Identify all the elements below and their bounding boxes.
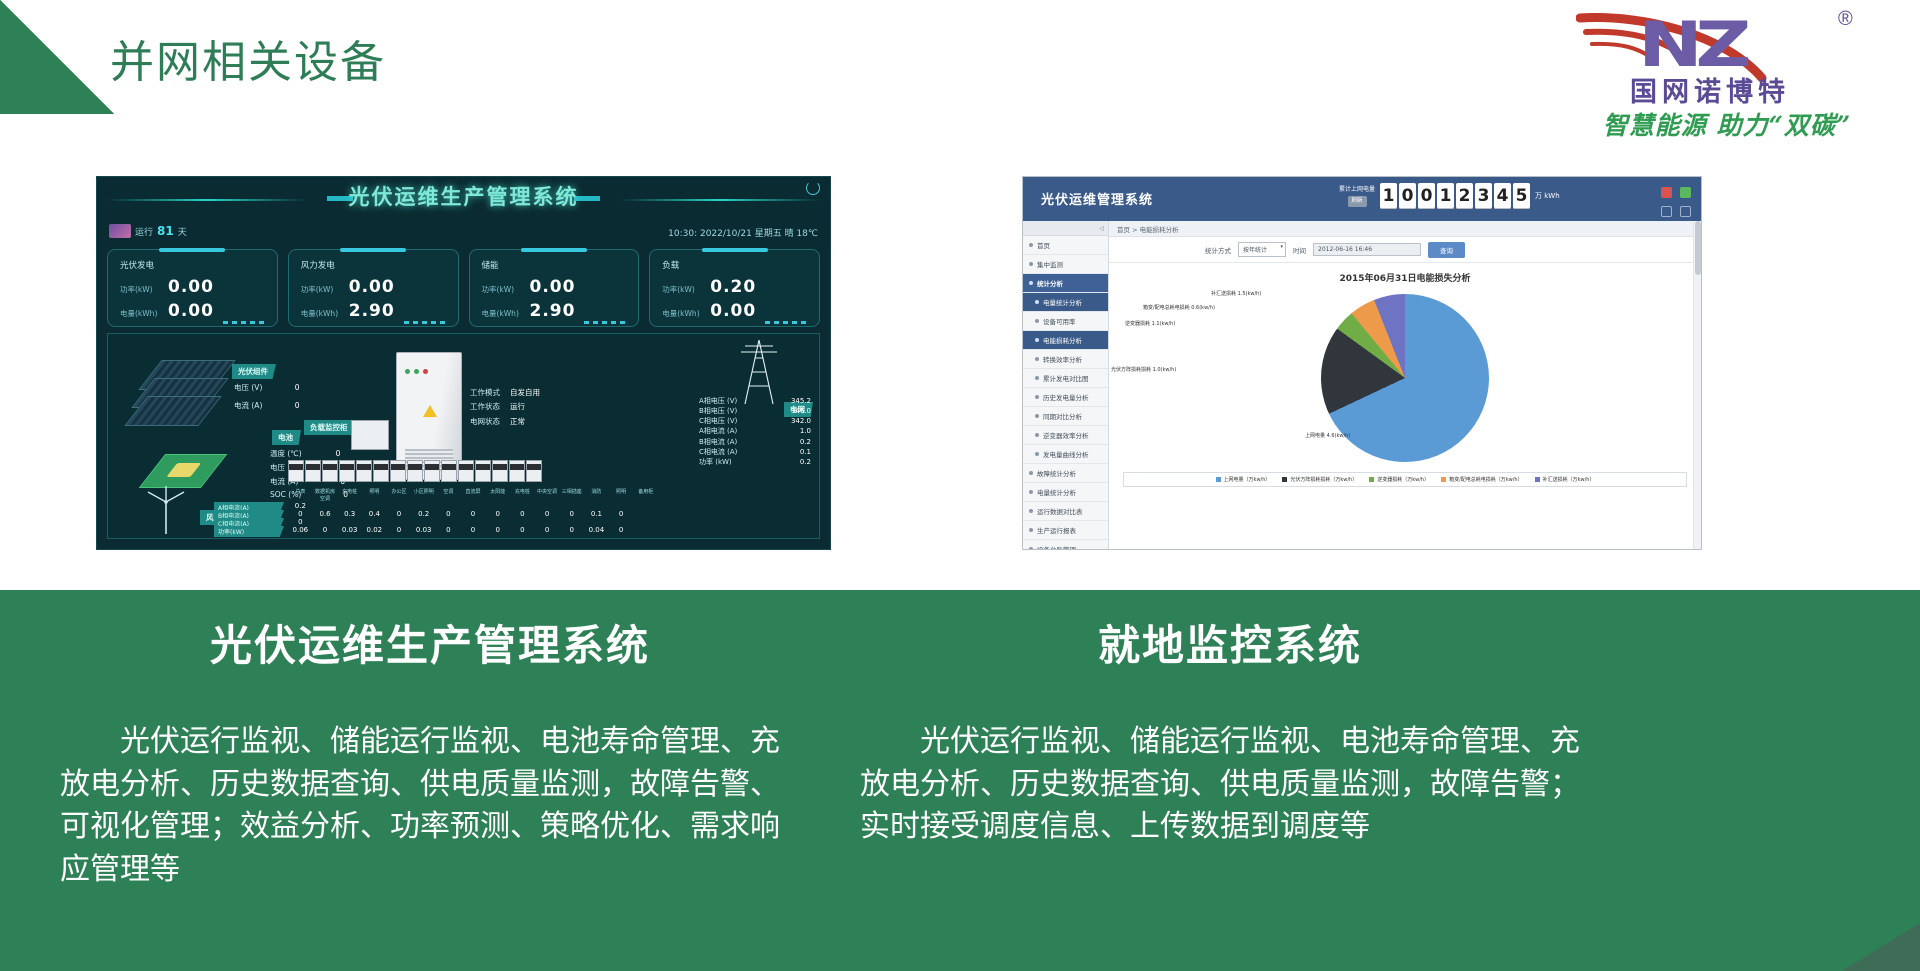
table-cell (387, 518, 412, 526)
logo-slogan: 智慧能源 助力“双碳” (1554, 106, 1900, 142)
bullet-icon (1035, 357, 1039, 361)
sidebar-item-label: 发电量曲线分析 (1043, 449, 1089, 459)
sidebar-item-7[interactable]: 累计发电对比图 (1023, 369, 1108, 388)
grid-value: 346.0 (791, 406, 811, 416)
mode-value: 运行 (510, 400, 525, 414)
kpi-card-load: 负载 功率(kW)0.20 电量(kWh)0.00 (649, 249, 820, 327)
sidebar-item-2[interactable]: 统计分析 (1023, 274, 1108, 293)
legend-item: 箱变/配电总耗电损耗（万kw/h） (1441, 476, 1523, 483)
pie-annotation: 上网电量 4.6(kw/h) (1305, 432, 1350, 439)
bullet-icon (1029, 547, 1033, 550)
legend-swatch (1535, 477, 1540, 482)
table-column-header: 办公区 (387, 488, 412, 502)
sidebar-item-label: 生产运行报表 (1037, 525, 1076, 535)
legend-label: 光伏方阵损耗损耗（万kw/h） (1290, 476, 1357, 483)
counter-digit: 1 (1380, 183, 1397, 209)
caption-column-right: 就地监控系统 光伏运行监视、储能运行监视、电池寿命管理、充放电分析、历史数据查询… (860, 612, 1600, 849)
header-action-icons (1658, 183, 1691, 221)
kpi-label: 电量(kWh) (120, 308, 160, 319)
legend-item: 逆变器损耗（万kw/h） (1369, 476, 1429, 483)
table-cell (535, 518, 560, 526)
web-brand-title: 光伏运维管理系统 (1041, 189, 1153, 208)
table-cell: 0 (510, 526, 535, 534)
table-cell (337, 518, 362, 526)
kpi-name: 风力发电 (301, 259, 448, 271)
table-cell (337, 502, 362, 510)
alert-icon[interactable] (1661, 187, 1672, 198)
bullet-icon (1029, 509, 1033, 513)
grid-label: C相电压 (V) (699, 416, 737, 426)
kpi-card-row: 光伏发电 功率(kW)0.00 电量(kWh)0.00 风力发电 功率(kW)0… (97, 245, 830, 327)
table-cell: 0 (559, 510, 584, 518)
kpi-value: 0.20 (710, 277, 756, 297)
table-column-header: 照明 (362, 488, 387, 502)
breaker-icon (288, 460, 304, 482)
chart-legend: 上网电量（万kw/h）光伏方阵损耗损耗（万kw/h）逆变器损耗（万kw/h）箱变… (1123, 472, 1687, 487)
table-cell (461, 518, 486, 526)
table-cell: 0 (461, 526, 486, 534)
runtime-label: 运行 (135, 225, 153, 238)
sidebar-item-11[interactable]: 发电量曲线分析 (1023, 445, 1108, 464)
breaker-icon (390, 460, 406, 482)
sidebar-item-label: 设备可用率 (1043, 316, 1076, 326)
page-title: 并网相关设备 (110, 26, 386, 90)
legend-label: 上网电量（万kw/h） (1224, 476, 1271, 483)
grid-label: A相电流 (A) (699, 426, 737, 436)
caption-body-right: 光伏运行监视、储能运行监视、电池寿命管理、充放电分析、历史数据查询、供电质量监测… (860, 721, 1600, 849)
table-cell: 0.03 (337, 526, 362, 534)
pie-annotation: 光伏方阵损耗损耗 1.0(kw/h) (1111, 366, 1176, 373)
breaker-icon (526, 460, 542, 482)
breaker-icon (356, 460, 372, 482)
kpi-name: 光伏发电 (120, 259, 267, 271)
sidebar-item-label: 逆变器效率分析 (1043, 430, 1089, 440)
legend-item: 补汇送损耗（万kw/h） (1535, 476, 1595, 483)
bullet-icon (1029, 281, 1033, 285)
sidebar-item-label: 同期对比分析 (1043, 411, 1082, 421)
pv-field-label: 电压 (V) (234, 383, 262, 392)
kpi-card-storage: 储能 功率(kW)0.00 电量(kWh)2.90 (469, 249, 640, 327)
kpi-name: 储能 (482, 259, 629, 271)
pie-annotation: 逆变器损耗 1.1(kw/h) (1125, 320, 1175, 327)
kpi-value: 0.00 (168, 301, 214, 321)
sidebar-item-label: 历史发电量分析 (1043, 392, 1089, 402)
grid-value: 342.0 (791, 416, 811, 426)
table-cell: 0.2 (288, 502, 313, 510)
grid-label: 功率 (kW) (699, 457, 732, 467)
sidebar: ◁ 首页集中监测统计分析电量统计分析设备可用率电能损耗分析转换效率分析累计发电对… (1023, 221, 1109, 550)
mode-label: 工作模式 (470, 386, 500, 400)
breaker-icon (339, 460, 355, 482)
sidebar-item-6[interactable]: 转换效率分析 (1023, 350, 1108, 369)
table-cell (411, 502, 436, 510)
table-cell (461, 502, 486, 510)
user-icon[interactable] (1680, 206, 1691, 217)
table-cell (609, 518, 634, 526)
grid-value: 1.0 (800, 426, 811, 436)
filter-toolbar: 统计方式 按年统计 时间 2012-06-16 16:46 查询 (1109, 237, 1701, 263)
breaker-icon (424, 460, 440, 482)
power-icon[interactable] (806, 181, 820, 195)
chart-title: 2015年06月31日电能损失分析 (1117, 271, 1693, 284)
sidebar-item-label: 统计分析 (1037, 278, 1063, 288)
table-column-header: 照明 (609, 488, 634, 502)
datetime-weather: 10:30: 2022/10/21 星期五 晴 18℃ (668, 226, 818, 239)
load-measurement-table: 总表数据机房空调充电桩照明办公区小区照明空调直流屏太阳能充电桩中央空调三相插座消… (288, 488, 658, 534)
load-cabinet-tag: 负载监控柜 (304, 420, 356, 435)
grid-label: C相电流 (A) (699, 447, 737, 457)
breaker-icon (407, 460, 423, 482)
table-cell (633, 518, 658, 526)
bullet-icon (1035, 452, 1039, 456)
caption-panel: 光伏运维生产管理系统 光伏运行监视、储能运行监视、电池寿命管理、充放电分析、历史… (0, 590, 1920, 971)
table-cell: 0 (436, 510, 461, 518)
grid-label: A相电压 (V) (699, 396, 737, 406)
runtime-days: 81 (157, 224, 174, 238)
stat-method-label: 统计方式 (1205, 245, 1231, 255)
kpi-label: 功率(kW) (120, 284, 160, 295)
sidebar-item-label: 转换效率分析 (1043, 354, 1082, 364)
table-column-header: 太阳能 (485, 488, 510, 502)
table-cell: 0 (510, 510, 535, 518)
kpi-label: 电量(kWh) (482, 308, 522, 319)
table-cell (633, 502, 658, 510)
kpi-value: 0.00 (530, 277, 576, 297)
runtime-unit: 天 (178, 225, 187, 238)
kpi-label: 功率(kW) (482, 284, 522, 295)
table-cell (411, 518, 436, 526)
pv-field-label: 电流 (A) (234, 401, 262, 410)
table-row: B相电流(A)00.60.30.400.20000000.10 (288, 510, 658, 518)
table-column-header: 消防 (584, 488, 609, 502)
legend-label: 箱变/配电总耗电损耗（万kw/h） (1449, 476, 1523, 483)
bullet-icon (1029, 490, 1033, 494)
table-cell: 0.04 (584, 526, 609, 534)
logo-chip-icon (109, 224, 131, 238)
table-column-header: 备用柜 (633, 488, 658, 502)
bullet-icon (1035, 433, 1039, 437)
breaker-icon (458, 460, 474, 482)
battery-field-value: 0 (336, 449, 341, 458)
legend-label: 补汇送损耗（万kw/h） (1543, 476, 1595, 483)
table-cell: 0 (387, 510, 412, 518)
breaker-icon (475, 460, 491, 482)
pv-management-web-screenshot: 光伏运维管理系统 累计上网电量 刷新 10012345 万 kWh ◁ 首页集中… (1022, 176, 1702, 550)
legend-swatch (1441, 477, 1446, 482)
table-cell: 0.4 (362, 510, 387, 518)
mini-breaker-icon (351, 420, 389, 450)
grid-label: B相电压 (V) (699, 406, 737, 416)
query-button[interactable]: 查询 (1428, 242, 1465, 258)
refresh-button[interactable]: 刷新 (1348, 196, 1367, 206)
table-cell: 0 (609, 526, 634, 534)
table-row-label: 功率(kW) (214, 526, 284, 537)
kpi-label: 功率(kW) (662, 284, 702, 295)
sidebar-item-13[interactable]: 电量统计分析 (1023, 483, 1108, 502)
table-cell (510, 502, 535, 510)
table-column-header: 数据机房空调 (313, 488, 338, 502)
breaker-icon (305, 460, 321, 482)
main-content: 首页 > 电能损耗分析 统计方式 按年统计 时间 2012-06-16 16:4… (1109, 221, 1701, 550)
sidebar-item-10[interactable]: 逆变器效率分析 (1023, 426, 1108, 445)
loss-analysis-chart-card: 2015年06月31日电能损失分析 上网电量 4.6(kw/h)光伏方阵损耗损耗… (1109, 263, 1701, 487)
table-cell (362, 502, 387, 510)
sidebar-item-label: 电量统计分析 (1037, 487, 1076, 497)
table-column-header: 空调 (436, 488, 461, 502)
breaker-bank-icon (288, 460, 542, 482)
dashboard-title: 光伏运维生产管理系统 (97, 181, 830, 211)
sidebar-item-14[interactable]: 运行数据对比表 (1023, 502, 1108, 521)
table-cell: 0 (535, 526, 560, 534)
table-column-header: 三相插座 (559, 488, 584, 502)
counter-digit: 5 (1513, 183, 1530, 209)
caption-title-right: 就地监控系统 (860, 612, 1600, 673)
pv-operation-dashboard-screenshot: 光伏运维生产管理系统 运行 81 天 10:30: 2022/10/21 星期五… (96, 176, 831, 550)
table-cell: 0 (288, 518, 313, 526)
pv-module-tag: 光伏组件 (232, 364, 276, 379)
table-cell: 0.2 (411, 510, 436, 518)
logo-company-name: 国网诺博特 (1630, 70, 1790, 109)
pv-field-value: 0 (295, 401, 300, 410)
message-icon[interactable] (1661, 206, 1672, 217)
sidebar-collapse-toggle[interactable]: ◁ (1023, 221, 1108, 236)
table-cell (313, 502, 338, 510)
dashboard-status-bar: 运行 81 天 10:30: 2022/10/21 星期五 晴 18℃ (97, 223, 830, 245)
breaker-icon (492, 460, 508, 482)
sidebar-item-16[interactable]: 设备台账管理 (1023, 540, 1108, 550)
breaker-icon (509, 460, 525, 482)
table-column-header: 直流屏 (461, 488, 486, 502)
table-column-header: 小区照明 (411, 488, 436, 502)
bullet-icon (1035, 319, 1039, 323)
table-cell (535, 502, 560, 510)
table-cell (387, 502, 412, 510)
table-row: A相电流(A)0.2 (288, 502, 658, 510)
counter-digit: 3 (1475, 183, 1492, 209)
pv-field-value: 0 (295, 383, 300, 392)
runtime-badge: 运行 81 天 (109, 224, 187, 238)
table-cell: 0.06 (288, 526, 313, 534)
panel-corner-decoration (1842, 923, 1920, 971)
pie-chart-area: 上网电量 4.6(kw/h)光伏方阵损耗损耗 1.0(kw/h)逆变器损耗 1.… (1117, 284, 1693, 470)
kpi-value: 2.90 (530, 301, 576, 321)
sidebar-item-9[interactable]: 同期对比分析 (1023, 407, 1108, 426)
breaker-icon (322, 460, 338, 482)
web-body: ◁ 首页集中监测统计分析电量统计分析设备可用率电能损耗分析转换效率分析累计发电对… (1023, 221, 1701, 550)
bullet-icon (1035, 300, 1039, 304)
grid-measurement-fields: A相电压 (V)345.2 B相电压 (V)346.0 C相电压 (V)342.… (699, 396, 811, 467)
sidebar-item-4[interactable]: 设备可用率 (1023, 312, 1108, 331)
table-cell (633, 526, 658, 534)
grid-value: 0.1 (800, 447, 811, 457)
kpi-value: 2.90 (349, 301, 395, 321)
bullet-icon (1029, 528, 1033, 532)
table-cell: 0.03 (411, 526, 436, 534)
table-cell: 0 (288, 510, 313, 518)
web-header: 光伏运维管理系统 累计上网电量 刷新 10012345 万 kWh (1023, 177, 1701, 221)
kpi-card-pv: 光伏发电 功率(kW)0.00 电量(kWh)0.00 (107, 249, 278, 327)
table-cell: 0 (559, 526, 584, 534)
bullet-icon (1035, 395, 1039, 399)
pcs-status-fields: 工作模式自发自用 工作状态运行 电网状态正常 (470, 386, 540, 429)
bullet-icon (1035, 376, 1039, 380)
table-cell (584, 502, 609, 510)
table-cell: 0.1 (584, 510, 609, 518)
table-cell: 0 (535, 510, 560, 518)
status-ok-icon[interactable] (1680, 187, 1691, 198)
sidebar-item-5[interactable]: 电能损耗分析 (1023, 331, 1108, 350)
counter-digit: 0 (1418, 183, 1435, 209)
sidebar-item-label: 首页 (1037, 240, 1050, 250)
sidebar-item-12[interactable]: 故障统计分析 (1023, 464, 1108, 483)
kpi-value: 0.00 (710, 301, 756, 321)
sidebar-item-3[interactable]: 电量统计分析 (1023, 293, 1108, 312)
table-row: 功率(kW)0.0600.030.0200.030000000.040 (288, 526, 658, 534)
energy-counter: 累计上网电量 刷新 10012345 万 kWh (1339, 183, 1560, 209)
bullet-icon (1029, 471, 1033, 475)
warning-icon (423, 405, 437, 417)
sidebar-item-15[interactable]: 生产运行报表 (1023, 521, 1108, 540)
kpi-label: 功率(kW) (301, 284, 341, 295)
grid-value: 0.2 (800, 457, 811, 467)
registered-icon: ® (1838, 8, 1853, 31)
counter-digit: 2 (1456, 183, 1473, 209)
grid-value: 0.2 (800, 437, 811, 447)
sidebar-item-0[interactable]: 首页 (1023, 236, 1108, 255)
table-column-header: 充电桩 (510, 488, 535, 502)
caption-body-left: 光伏运行监视、储能运行监视、电池寿命管理、充放电分析、历史数据查询、供电质量监测… (60, 721, 800, 891)
dashboard-header: 光伏运维生产管理系统 (97, 177, 830, 223)
kpi-value: 0.00 (349, 277, 395, 297)
legend-label: 逆变器损耗（万kw/h） (1377, 476, 1429, 483)
table-cell (313, 518, 338, 526)
battery-field-label: 温度 (℃) (270, 449, 302, 458)
legend-swatch (1369, 477, 1374, 482)
table-row: C相电流(A)0 (288, 518, 658, 526)
table-cell: 0 (609, 510, 634, 518)
table-column-header: 总表 (288, 488, 313, 502)
sidebar-item-8[interactable]: 历史发电量分析 (1023, 388, 1108, 407)
legend-swatch (1282, 477, 1287, 482)
kpi-value: 0.00 (168, 277, 214, 297)
table-cell (436, 502, 461, 510)
legend-item: 光伏方阵损耗损耗（万kw/h） (1282, 476, 1357, 483)
bullet-icon (1029, 262, 1033, 266)
corner-decoration (0, 0, 114, 114)
table-cell: 0 (485, 526, 510, 534)
sidebar-item-label: 运行数据对比表 (1037, 506, 1083, 516)
table-cell (485, 518, 510, 526)
company-logo: NZ ® 国网诺博特 智慧能源 助力“双碳” (1550, 6, 1900, 142)
table-header-row: 总表数据机房空调充电桩照明办公区小区照明空调直流屏太阳能充电桩中央空调三相插座消… (288, 488, 658, 502)
mode-label: 电网状态 (470, 415, 500, 429)
legend-swatch (1216, 477, 1221, 482)
time-label: 时间 (1293, 245, 1306, 255)
wind-turbine-icon (136, 484, 196, 534)
sidebar-item-1[interactable]: 集中监测 (1023, 255, 1108, 274)
table-cell: 0 (436, 526, 461, 534)
legend-item: 上网电量（万kw/h） (1216, 476, 1271, 483)
grid-label: B相电流 (A) (699, 437, 737, 447)
sidebar-item-label: 集中监测 (1037, 259, 1063, 269)
counter-digit: 1 (1437, 183, 1454, 209)
table-cell: 0 (461, 510, 486, 518)
bullet-icon (1035, 338, 1039, 342)
table-cell: 0 (387, 526, 412, 534)
bullet-icon (1029, 243, 1033, 247)
table-column-header: 中央空调 (535, 488, 560, 502)
kpi-name: 负载 (662, 259, 809, 271)
breaker-icon (373, 460, 389, 482)
table-cell (510, 518, 535, 526)
table-cell: 0 (485, 510, 510, 518)
battery-icon (139, 454, 228, 488)
counter-digit: 4 (1494, 183, 1511, 209)
kpi-card-wind: 风力发电 功率(kW)0.00 电量(kWh)2.90 (288, 249, 459, 327)
counter-label: 累计上网电量 (1339, 185, 1375, 194)
mode-value: 自发自用 (510, 386, 540, 400)
vertical-scrollbar[interactable] (1693, 221, 1701, 549)
table-cell: 0.3 (337, 510, 362, 518)
sidebar-item-label: 累计发电对比图 (1043, 373, 1089, 383)
breaker-icon (441, 460, 457, 482)
pie-annotation: 箱变/配电总耗电损耗 0.6(kw/h) (1143, 304, 1215, 311)
table-cell (584, 518, 609, 526)
mode-value: 正常 (510, 415, 525, 429)
table-cell (436, 518, 461, 526)
table-cell: 0.6 (313, 510, 338, 518)
table-cell (633, 510, 658, 518)
caption-title-left: 光伏运维生产管理系统 (60, 612, 800, 673)
stat-method-select[interactable]: 按年统计 (1238, 242, 1286, 257)
table-column-header: 充电桩 (337, 488, 362, 502)
sidebar-item-label: 电量统计分析 (1043, 297, 1082, 307)
table-cell (559, 502, 584, 510)
table-cell (559, 518, 584, 526)
table-cell: 0 (313, 526, 338, 534)
sidebar-item-label: 故障统计分析 (1037, 468, 1076, 478)
kpi-label: 电量(kWh) (301, 308, 341, 319)
counter-digit: 0 (1399, 183, 1416, 209)
counter-unit: 万 kWh (1535, 191, 1560, 201)
counter-label-block: 累计上网电量 刷新 (1339, 185, 1375, 206)
table-cell (362, 518, 387, 526)
bullet-icon (1035, 414, 1039, 418)
table-cell (609, 502, 634, 510)
table-cell: 0.02 (362, 526, 387, 534)
caption-column-left: 光伏运维生产管理系统 光伏运行监视、储能运行监视、电池寿命管理、充放电分析、历史… (60, 612, 800, 891)
table-cell (485, 502, 510, 510)
kpi-label: 电量(kWh) (662, 308, 702, 319)
pie-annotation: 补汇送损耗 1.5(kw/h) (1211, 290, 1261, 297)
system-topology-diagram: 光伏组件 电压 (V) 0 电流 (A) 0 电池 温度 (℃)0 电压 (V)… (107, 333, 820, 539)
mode-label: 工作状态 (470, 400, 500, 414)
time-input[interactable]: 2012-06-16 16:46 (1313, 243, 1421, 256)
battery-tag: 电池 (272, 430, 301, 445)
pv-panel-icon (136, 360, 222, 438)
scrollbar-thumb[interactable] (1695, 221, 1701, 275)
breadcrumb: 首页 > 电能损耗分析 (1109, 221, 1701, 237)
sidebar-item-label: 设备台账管理 (1037, 544, 1076, 550)
sidebar-item-label: 电能损耗分析 (1043, 335, 1082, 345)
grid-value: 345.2 (791, 396, 811, 406)
counter-digits: 10012345 (1380, 183, 1530, 209)
